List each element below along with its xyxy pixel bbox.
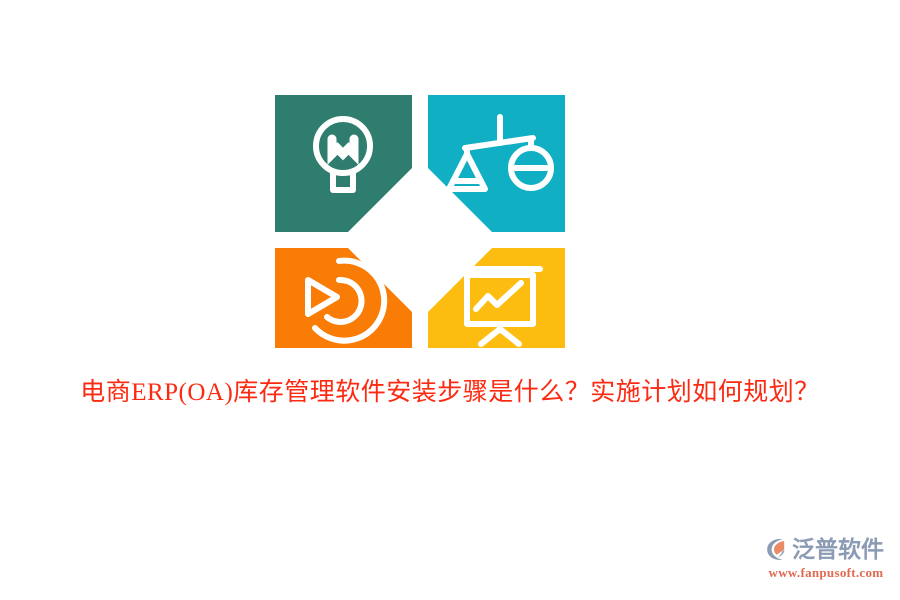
- page-title: 电商ERP(OA)库存管理软件安装步骤是什么？实施计划如何规划？: [0, 371, 900, 415]
- brand-logo: 泛普软件 www.fanpusoft.com: [762, 534, 890, 584]
- hero-graphic: [275, 95, 565, 348]
- quadrant-top-right: [428, 95, 565, 232]
- logo-wordmark: 泛普软件: [792, 536, 884, 563]
- logo-row: 泛普软件: [762, 534, 890, 564]
- fanpu-swoosh-logo-icon: [762, 536, 789, 563]
- quadrant-bottom-left: [275, 248, 412, 348]
- logo-url: www.fanpusoft.com: [762, 565, 890, 581]
- quadrant-top-left: [275, 95, 412, 232]
- quadrant-bottom-right: [428, 248, 565, 348]
- page-canvas: 电商ERP(OA)库存管理软件安装步骤是什么？实施计划如何规划？ 泛普软件 ww…: [0, 0, 900, 600]
